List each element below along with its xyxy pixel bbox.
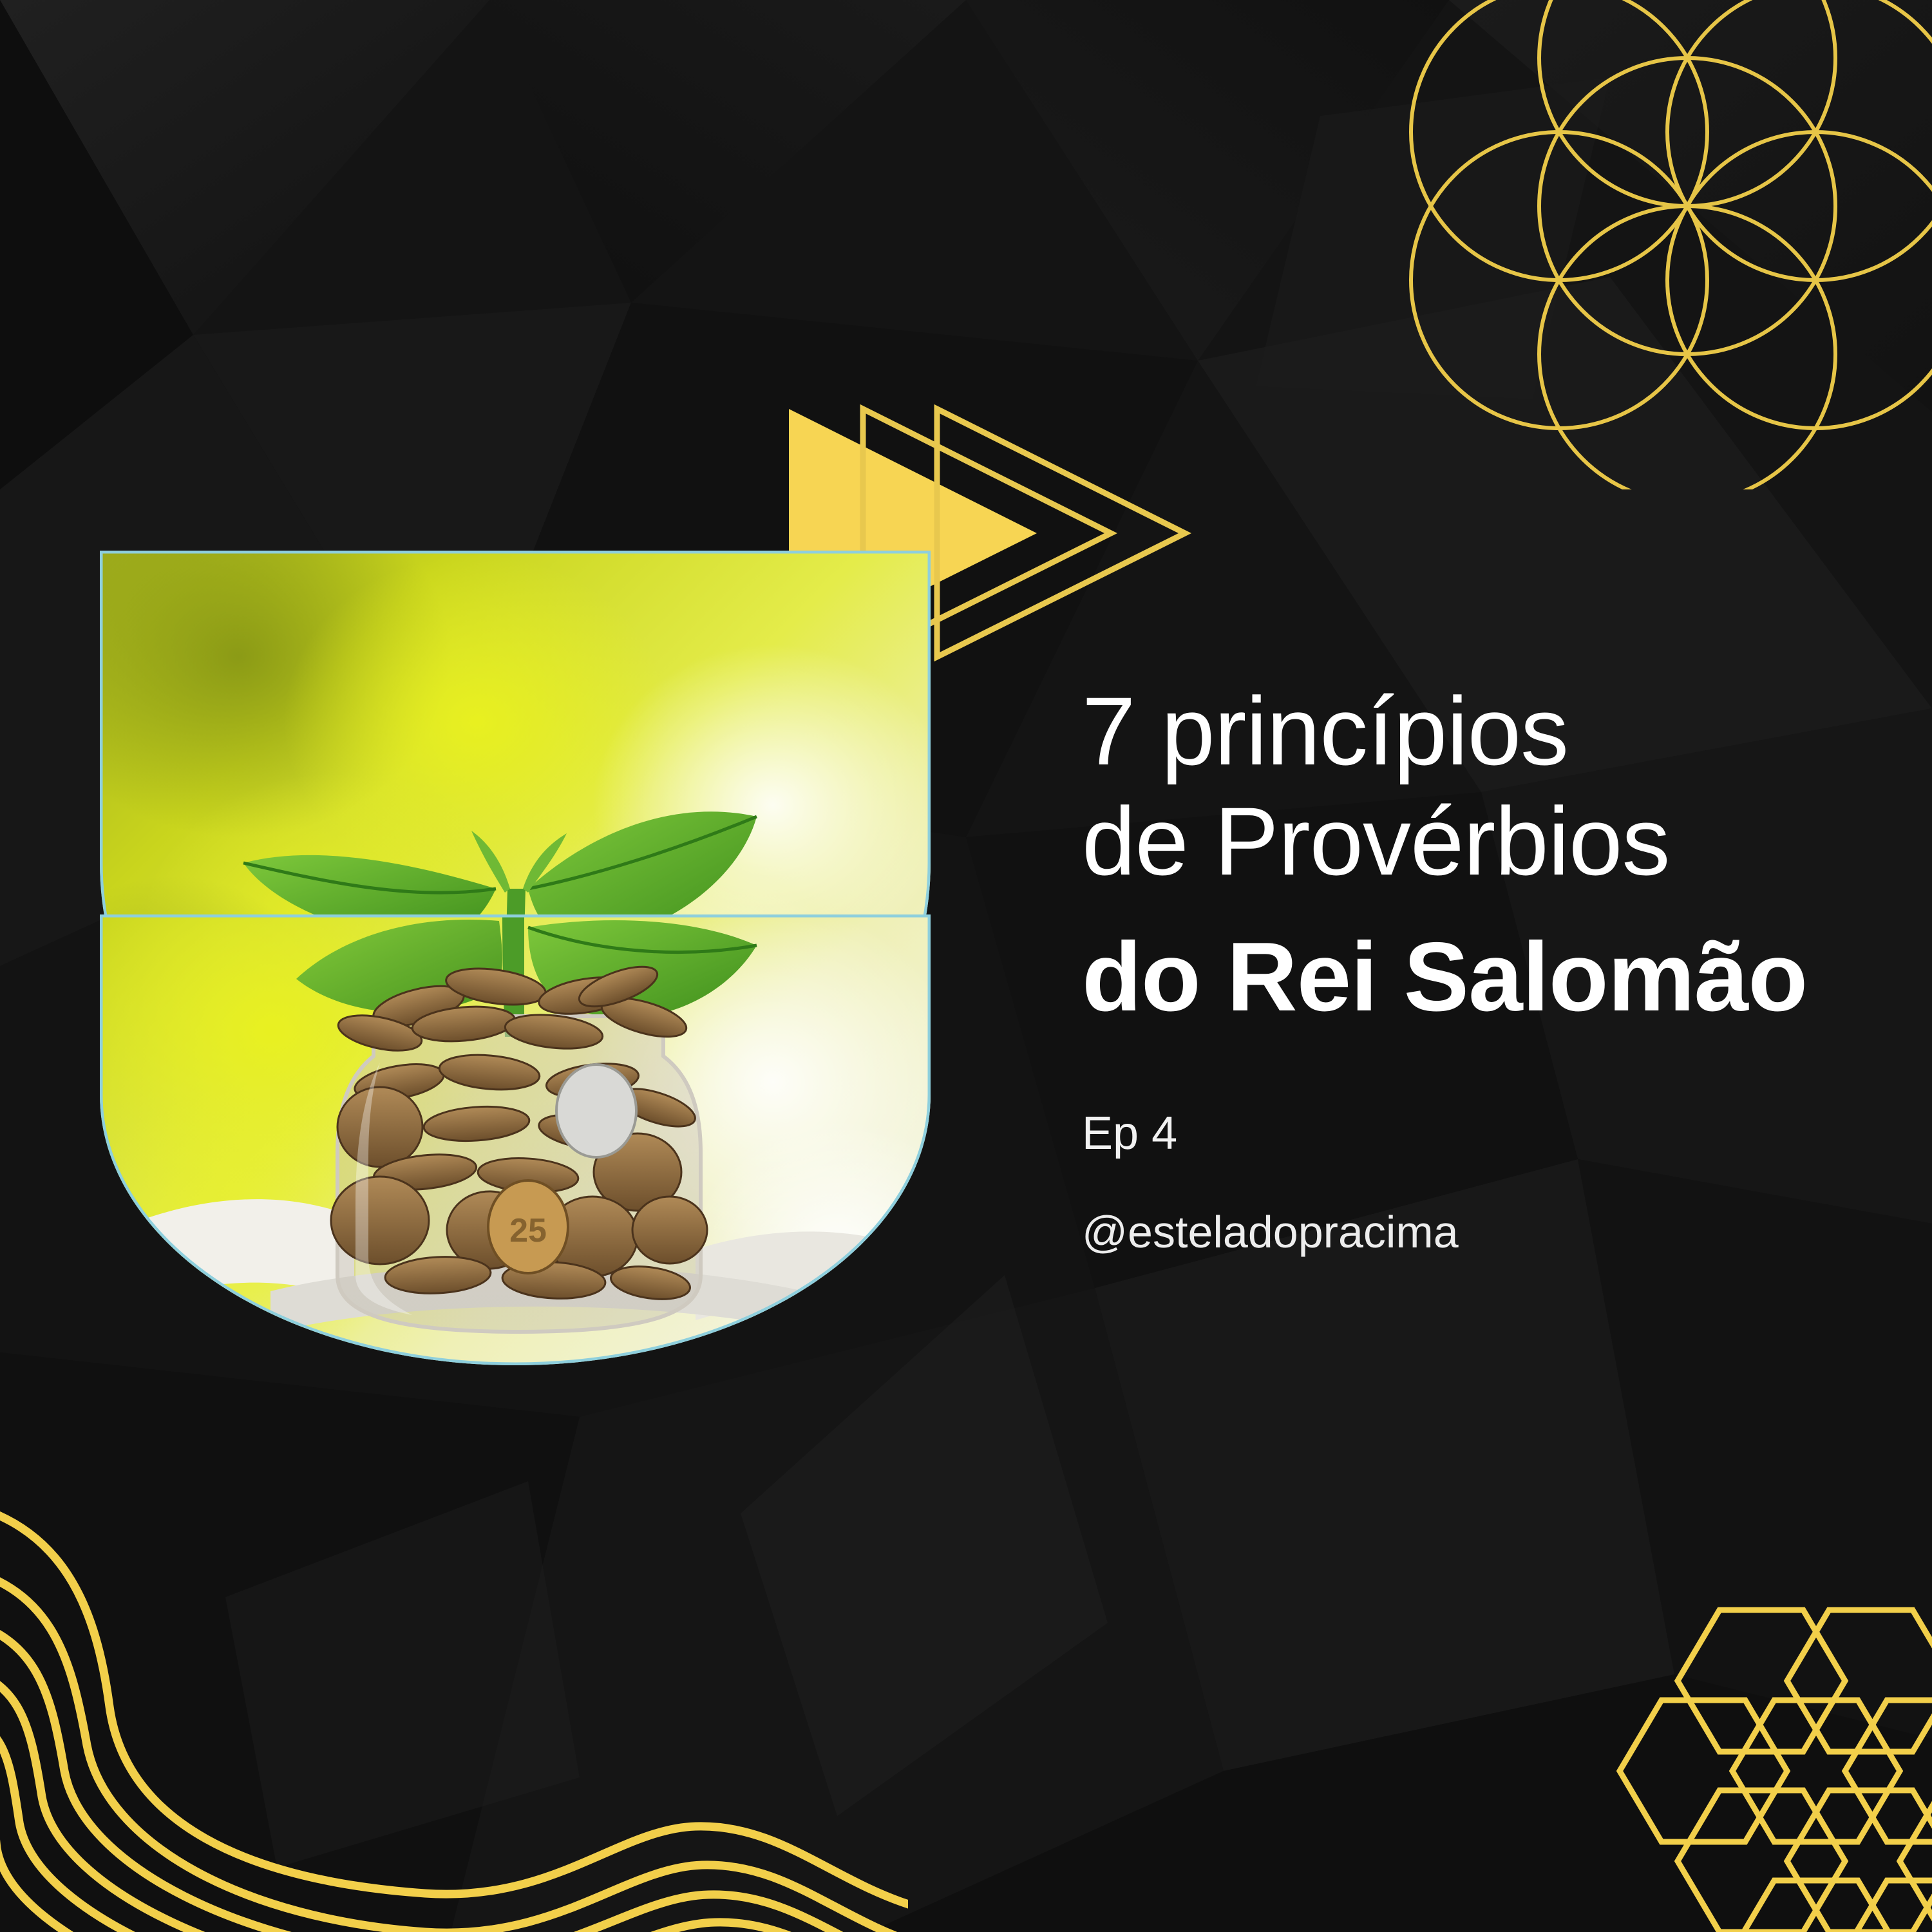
- sprout-coin-jar-illustration: 25: [77, 528, 979, 1430]
- episode-label: Ep 4: [1082, 1107, 1874, 1160]
- seed-of-life-rosette-icon: [1404, 0, 1932, 489]
- gold-hexagon-tessellation-decoration: [1616, 1597, 1932, 1932]
- cover-text-block: 7 princípios de Provérbios do Rei Salomã…: [1082, 676, 1874, 1258]
- page-title-line-1: 7 princípios: [1082, 676, 1874, 786]
- page-title-line-3-bold: do Rei Salomão: [1082, 923, 1874, 1031]
- page-title-line-2: de Provérbios: [1082, 786, 1874, 896]
- social-handle: @esteladopracima: [1082, 1206, 1874, 1258]
- flowing-gold-lines-decoration: [0, 1494, 908, 1932]
- cover-canvas: 25: [0, 0, 1932, 1932]
- svg-text:25: 25: [509, 1212, 547, 1249]
- cover-photo: 25: [77, 528, 979, 1430]
